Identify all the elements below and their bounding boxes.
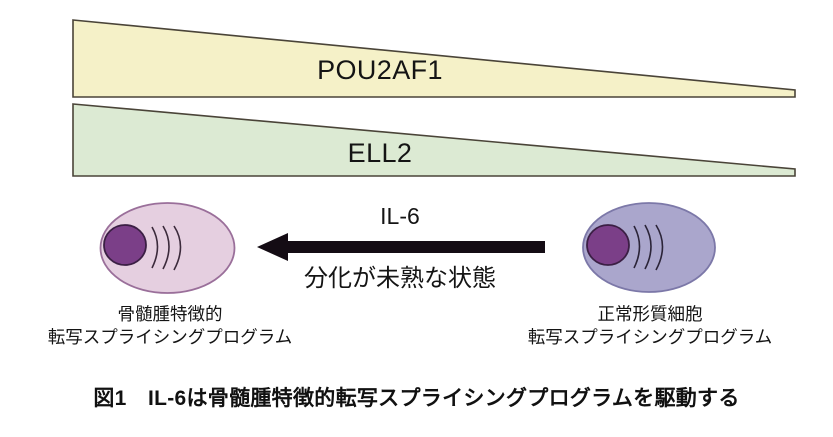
figure-container: POU2AF1 ELL2 IL-6 分化が未熟な状態 骨髄腫特徴的 転写スプライ… (0, 0, 833, 437)
arrow-label-il6: IL-6 (300, 203, 500, 230)
cell-caption-myeloma: 骨髄腫特徴的 転写スプライシングプログラム (10, 303, 330, 349)
wedge-label-ell2: ELL2 (0, 138, 760, 169)
normal-plasma-cell-graphic (583, 203, 715, 292)
myeloma-cell-graphic (101, 203, 235, 293)
cell-caption-normal-plasma-line2: 転写スプライシングプログラム (485, 326, 815, 349)
il6-arrow (257, 233, 545, 261)
cell-nucleus (104, 225, 146, 265)
cell-nucleus (587, 225, 629, 265)
arrow-shaft (283, 241, 545, 253)
arrow-label-undifferentiated-state: 分化が未熟な状態 (280, 258, 520, 293)
cell-caption-normal-plasma: 正常形質細胞 転写スプライシングプログラム (485, 303, 815, 349)
cell-caption-normal-plasma-line1: 正常形質細胞 (485, 303, 815, 326)
wedge-label-pou2af1: POU2AF1 (0, 55, 760, 86)
figure-caption: 図1 IL-6は骨髄腫特徴的転写スプライシングプログラムを駆動する (0, 382, 833, 412)
cell-caption-myeloma-line2: 転写スプライシングプログラム (10, 326, 330, 349)
arrow-head (257, 233, 288, 261)
cell-caption-myeloma-line1: 骨髄腫特徴的 (10, 303, 330, 326)
